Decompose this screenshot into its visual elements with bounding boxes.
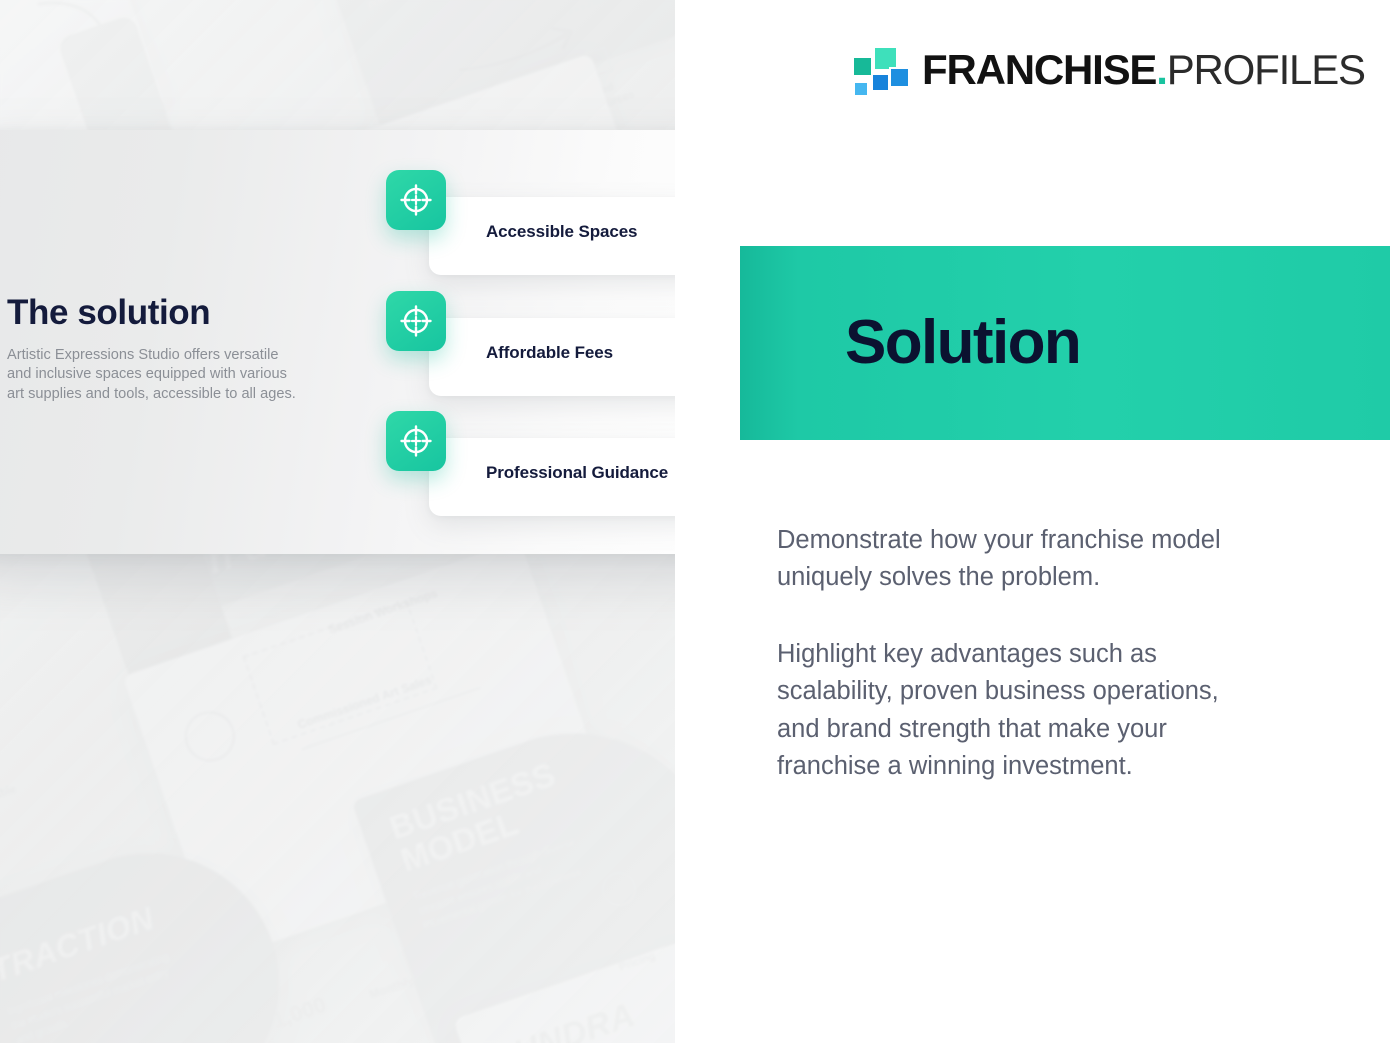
feature-label: Accessible Spaces (486, 222, 637, 242)
feature-row-affordable-fees[interactable]: Affordable Fees (386, 291, 675, 401)
logo-separator-dot: . (1156, 46, 1166, 93)
feature-label: Affordable Fees (486, 343, 613, 363)
card-heading: The solution (7, 293, 210, 333)
section-title-band: Solution (740, 246, 1390, 440)
description-paragraph-2: Highlight key advantages such as scalabi… (777, 636, 1307, 786)
feature-label: Professional Guidance (486, 463, 668, 483)
content-panel: FRANCHISE.PROFILES Solution Demonstrate … (675, 0, 1390, 1043)
description-paragraph-1: Demonstrate how your franchise model uni… (777, 522, 1307, 597)
feature-row-accessible-spaces[interactable]: Accessible Spaces (386, 170, 675, 280)
brand-logo: FRANCHISE.PROFILES (850, 40, 1365, 100)
crosshair-target-icon (386, 411, 446, 471)
solution-preview-card: The solution Artistic Expressions Studio… (0, 130, 675, 554)
logo-word-primary: FRANCHISE (922, 46, 1156, 93)
feature-row-professional-guidance[interactable]: Professional Guidance (386, 411, 675, 521)
section-title: Solution (845, 312, 1080, 374)
logo-mosaic-icon (850, 42, 906, 98)
crosshair-target-icon (386, 291, 446, 351)
card-body-text: Artistic Expressions Studio offers versa… (7, 346, 327, 404)
logo-word-secondary: PROFILES (1167, 46, 1365, 93)
deck-preview-region: ces in urban and g a substantial $10,000… (0, 0, 675, 1043)
logo-wordmark: FRANCHISE.PROFILES (922, 49, 1365, 91)
slide-canvas: ces in urban and g a substantial $10,000… (0, 0, 1390, 1043)
logo-tile-blue-dark (889, 67, 910, 88)
logo-tile-teal-dark (852, 56, 873, 77)
crosshair-target-icon (386, 170, 446, 230)
logo-tile-blue-light (853, 81, 869, 97)
logo-tile-blue-mid (871, 73, 890, 92)
